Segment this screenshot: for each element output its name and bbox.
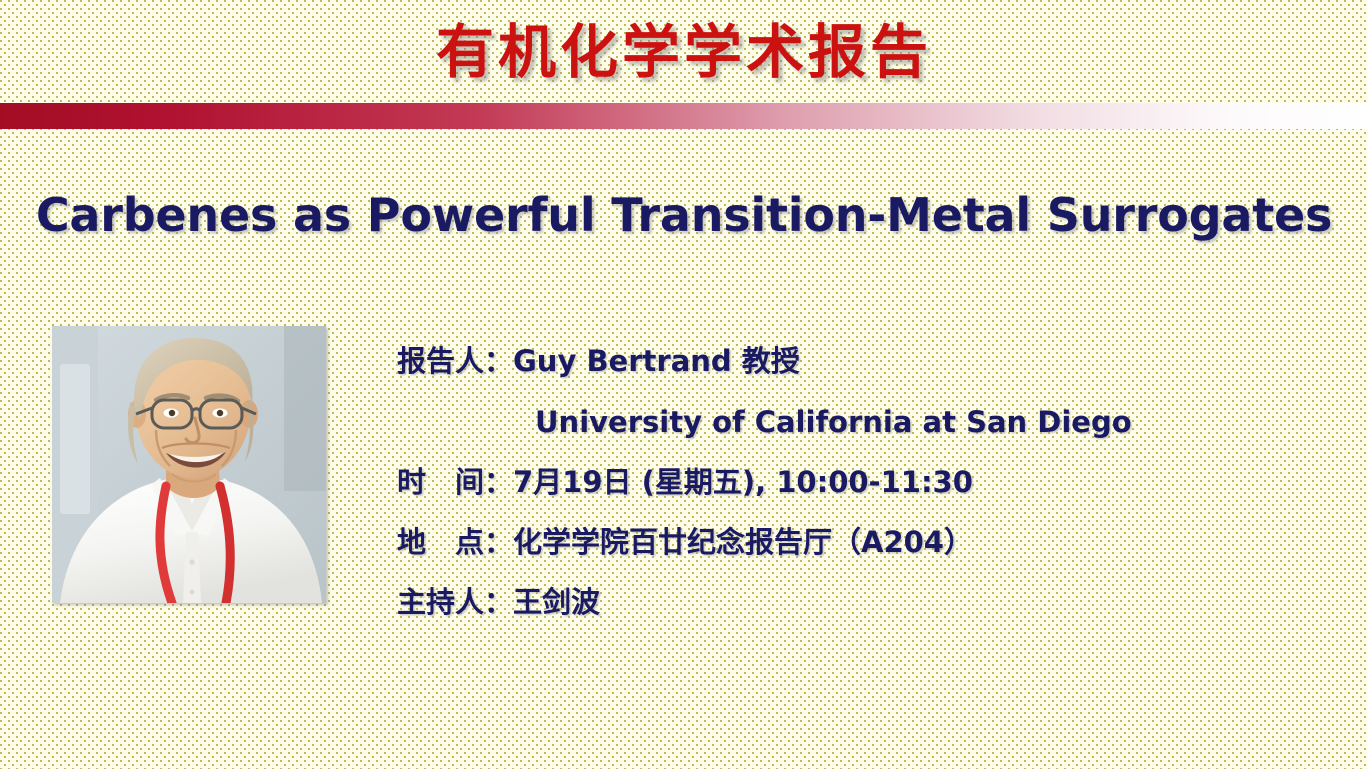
- detail-speaker: 报告人：Guy Bertrand 教授: [397, 344, 1337, 378]
- header-divider-bar: [0, 103, 1368, 129]
- speaker-photo: [52, 326, 326, 603]
- speaker-photo-image: [52, 326, 326, 603]
- detail-time: 时 间：7月19日 (星期五), 10:00-11:30: [397, 465, 1337, 499]
- poster-header-title: 有机化学学术报告: [0, 16, 1368, 88]
- detail-host: 主持人：王剑波: [397, 585, 1337, 619]
- detail-affiliation: University of California at San Diego: [397, 405, 1337, 439]
- detail-place: 地 点：化学学院百廿纪念报告厅（A204）: [397, 525, 1337, 559]
- seminar-poster-slide: 有机化学学术报告 Carbenes as Powerful Transition…: [0, 0, 1368, 769]
- talk-title: Carbenes as Powerful Transition-Metal Su…: [0, 183, 1368, 247]
- seminar-details: 报告人：Guy Bertrand 教授 University of Califo…: [397, 336, 1337, 619]
